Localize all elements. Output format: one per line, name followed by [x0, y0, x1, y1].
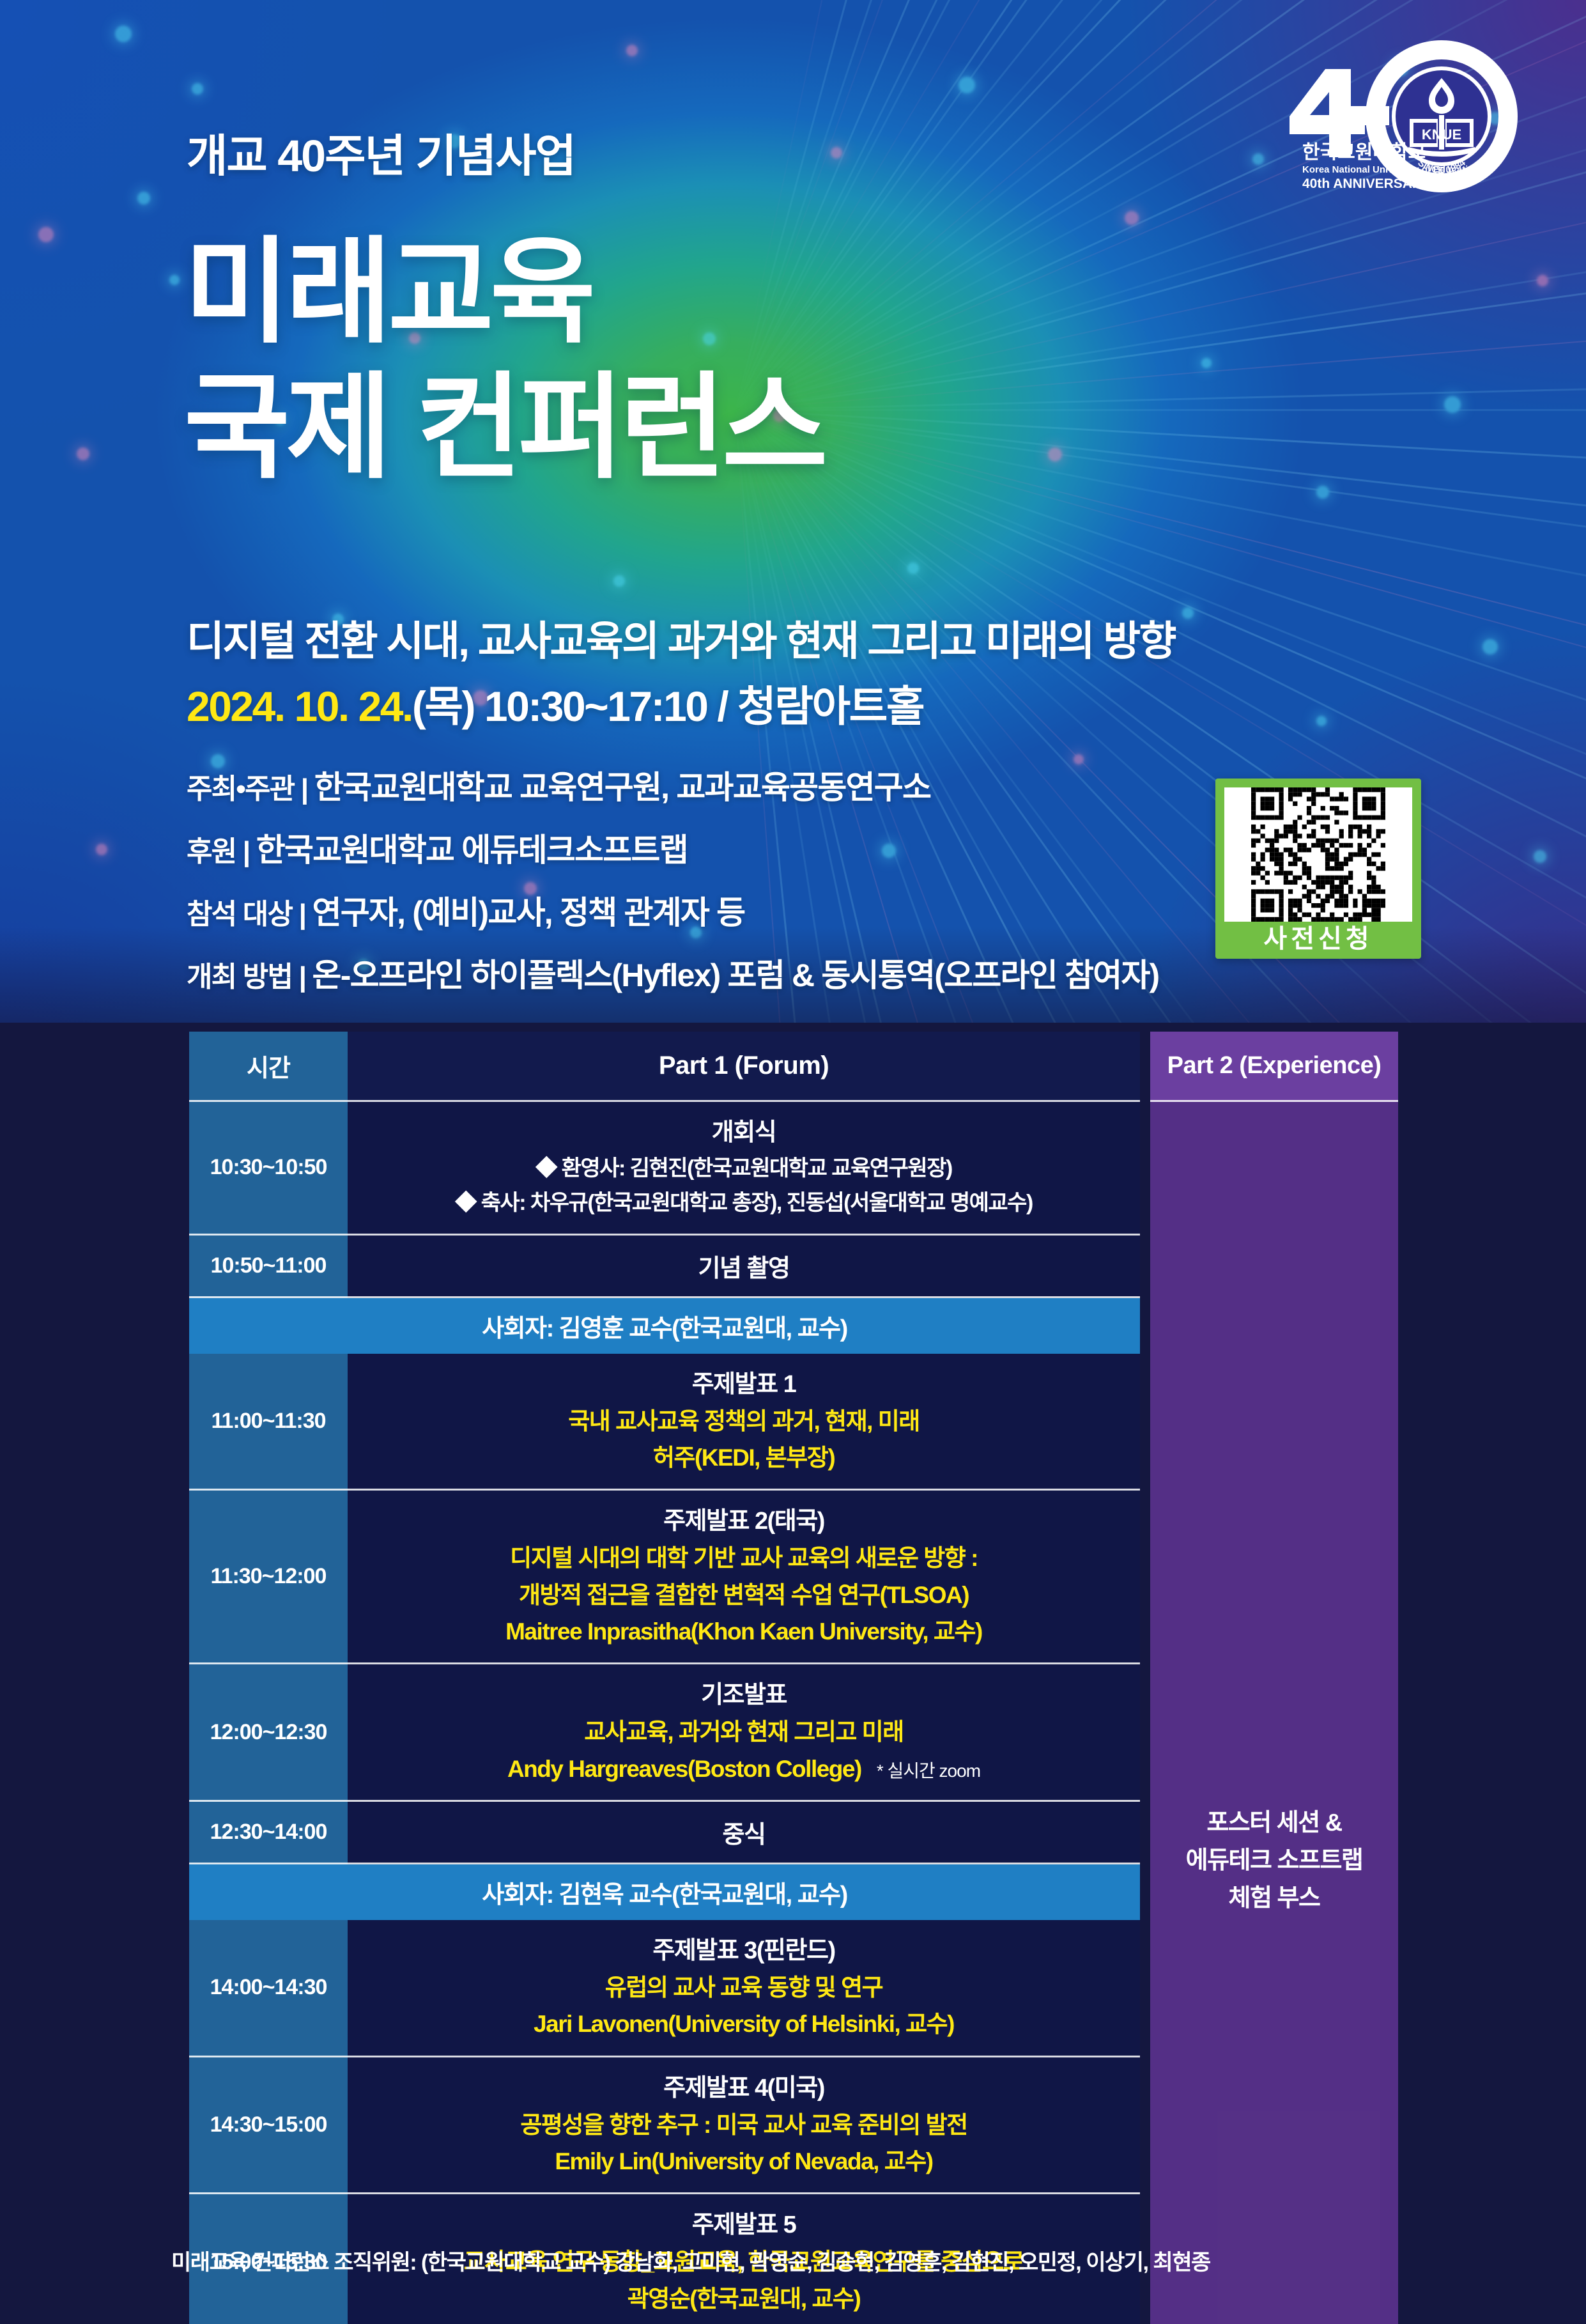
info-label-sponsor: 후원 | [187, 836, 256, 867]
event-time-venue: (목) 10:30~17:10 / 청람아트홀 [412, 683, 923, 730]
session-subject: 유럽의 교사 교육 동향 및 연구 [605, 1969, 882, 2006]
table-row: 10:30~10:50 개회식 ◆ 환영사: 김현진(한국교원대학교 교육연구원… [189, 1102, 1140, 1236]
logo-name-ko: 한국교원대학교 [1302, 142, 1426, 163]
table-row: 14:00~14:30 주제발표 3(핀란드) 유럽의 교사 교육 동향 및 연… [189, 1920, 1140, 2057]
info-label-host: 주최•주관 | [187, 773, 314, 805]
session-title: 기념 촬영 [698, 1248, 790, 1283]
row-content: 기조발표 교사교육, 과거와 현재 그리고 미래 Andy Hargreaves… [348, 1664, 1140, 1802]
row-time: 10:30~10:50 [189, 1102, 348, 1236]
poster-subtitle: 디지털 전환 시대, 교사교육의 과거와 현재 그리고 미래의 방향 [187, 608, 1175, 667]
info-label-audience: 참석 대상 | [187, 899, 312, 930]
column-gap [1140, 1032, 1150, 1102]
logo-name-en: Korea National University of Education [1302, 164, 1480, 175]
row-content: 주제발표 3(핀란드) 유럽의 교사 교육 동향 및 연구 Jari Lavon… [348, 1920, 1140, 2057]
row-time: 11:30~12:00 [189, 1491, 348, 1664]
row-content: 중식 [348, 1802, 1140, 1864]
qr-code-icon[interactable] [1224, 787, 1412, 922]
event-info-block: 주최•주관 | 한국교원대학교 교육연구원, 교과교육공동연구소 후원 | 한국… [187, 762, 1159, 1012]
event-datetime: 2024. 10. 24.(목) 10:30~17:10 / 청람아트홀 [187, 672, 923, 734]
row-time: 12:00~12:30 [189, 1664, 348, 1802]
table-row: 14:30~15:00 주제발표 4(미국) 공평성을 향한 추구 : 미국 교… [189, 2057, 1140, 2195]
part2-experience-cell: 포스터 세션 &에듀테크 소프트랩체험 부스 [1150, 1102, 1398, 2324]
info-row-host: 주최•주관 | 한국교원대학교 교육연구원, 교과교육공동연구소 [187, 762, 1159, 808]
session-title: 주제발표 4(미국) [663, 2070, 824, 2107]
table-row: 12:30~14:00 중식 [189, 1802, 1140, 1864]
row-time: 14:00~14:30 [189, 1920, 348, 2057]
session-subject: 교사교육, 과거와 현재 그리고 미래 [584, 1714, 903, 1750]
part2-text: 포스터 세션 &에듀테크 소프트랩체험 부스 [1186, 1804, 1363, 1917]
session-title: 주제발표 5 [692, 2207, 796, 2243]
info-row-sponsor: 후원 | 한국교원대학교 에듀테크소프트랩 [187, 825, 1159, 871]
knue-40th-anniversary-logo: KNUE SINCE 1984 한국교원대학교 Korea National U… [1250, 38, 1525, 198]
row-content: 개회식 ◆ 환영사: 김현진(한국교원대학교 교육연구원장) ◆ 축사: 차우규… [348, 1102, 1140, 1236]
session-speaker: Andy Hargreaves(Boston College) [507, 1756, 861, 1782]
session-subject: 공평성을 향한 추구 : 미국 교사 교육 준비의 발전 [520, 2107, 967, 2143]
info-label-format: 개최 방법 | [187, 961, 312, 993]
session-title: 주제발표 3(핀란드) [652, 1933, 835, 1969]
column-header-time: 시간 [189, 1032, 348, 1102]
row-time: 14:30~15:00 [189, 2057, 348, 2195]
info-value-audience: 연구자, (예비)교사, 정책 관계자 등 [312, 895, 745, 931]
info-value-sponsor: 한국교원대학교 에듀테크소프트랩 [256, 832, 688, 868]
table-row: 11:30~12:00 주제발표 2(태국) 디지털 시대의 대학 기반 교사 … [189, 1491, 1140, 1664]
title-line-2: 국제 컨퍼런스 [184, 360, 824, 496]
row-content: 주제발표 1 국내 교사교육 정책의 과거, 현재, 미래 허주(KEDI, 본… [348, 1354, 1140, 1491]
page-title: 미래교육 국제 컨퍼런스 [184, 225, 824, 497]
title-line-1: 미래교육 [184, 228, 592, 357]
info-row-format: 개최 방법 | 온-오프라인 하이플렉스(Hyflex) 포럼 & 동시통역(오… [187, 950, 1159, 996]
session-note: * 실시간 zoom [877, 1761, 980, 1781]
organizing-committee-note: 미래교육 컨퍼런스 조직위원: (한국교원대학교 교수) 강남화, 고미현, 곽… [171, 2245, 1210, 2276]
row-content: 주제발표 4(미국) 공평성을 향한 추구 : 미국 교사 교육 준비의 발전 … [348, 2057, 1140, 2195]
moderator-label: 사회자: 김영훈 교수(한국교원대, 교수) [189, 1298, 1140, 1354]
table-header-row: 시간 Part 1 (Forum) Part 2 (Experience) [189, 1032, 1398, 1102]
info-value-format: 온-오프라인 하이플렉스(Hyflex) 포럼 & 동시통역(오프라인 참여자) [312, 957, 1159, 993]
session-speaker: 허주(KEDI, 본부장) [653, 1439, 835, 1476]
conference-poster: KNUE SINCE 1984 한국교원대학교 Korea National U… [0, 0, 1586, 2324]
session-speaker: 곽영순(한국교원대, 교수) [627, 2281, 861, 2317]
table-row: 10:50~11:00 기념 촬영 [189, 1236, 1140, 1298]
row-time: 10:50~11:00 [189, 1236, 348, 1298]
session-speaker: Emily Lin(University of Nevada, 교수) [555, 2143, 932, 2180]
session-speaker-row: Andy Hargreaves(Boston College)* 실시간 zoo… [507, 1751, 980, 1787]
schedule-table: 시간 Part 1 (Forum) Part 2 (Experience) 10… [189, 1032, 1398, 2324]
column-header-part2: Part 2 (Experience) [1150, 1032, 1398, 1102]
row-content: 주제발표 2(태국) 디지털 시대의 대학 기반 교사 교육의 새로운 방향 :… [348, 1491, 1140, 1664]
session-title: 주제발표 2(태국) [663, 1503, 824, 1540]
session-bullet-1: ◆ 환영사: 김현진(한국교원대학교 교육연구원장) [535, 1151, 952, 1186]
column-header-part1: Part 1 (Forum) [348, 1032, 1140, 1102]
session-title: 기조발표 [701, 1677, 787, 1714]
row-time: 12:30~14:00 [189, 1802, 348, 1864]
table-row: 12:00~12:30 기조발표 교사교육, 과거와 현재 그리고 미래 And… [189, 1664, 1140, 1802]
session-title: 주제발표 1 [692, 1367, 796, 1403]
row-content: 기념 촬영 [348, 1236, 1140, 1298]
moderator-label: 사회자: 김현욱 교수(한국교원대, 교수) [189, 1864, 1140, 1920]
moderator-band-2: 사회자: 김현욱 교수(한국교원대, 교수) [189, 1864, 1140, 1920]
event-date: 2024. 10. 24. [187, 683, 412, 730]
info-row-audience: 참석 대상 | 연구자, (예비)교사, 정책 관계자 등 [187, 887, 1159, 933]
row-time: 11:00~11:30 [189, 1354, 348, 1491]
moderator-band-1: 사회자: 김영훈 교수(한국교원대, 교수) [189, 1298, 1140, 1354]
registration-qr-badge[interactable]: 사전신청 [1215, 779, 1421, 959]
session-speaker: Jari Lavonen(University of Helsinki, 교수) [534, 2006, 954, 2042]
info-value-host: 한국교원대학교 교육연구원, 교과교육공동연구소 [314, 770, 930, 805]
table-row: 11:00~11:30 주제발표 1 국내 교사교육 정책의 과거, 현재, 미… [189, 1354, 1140, 1491]
poster-kicker: 개교 40주년 기념사업 [187, 120, 575, 185]
emblem-knue-text: KNUE [1422, 127, 1461, 143]
session-title: 중식 [723, 1815, 766, 1850]
qr-label: 사전신청 [1215, 918, 1421, 955]
column-gap [1140, 1102, 1150, 2324]
session-subject-line-2: 개방적 접근을 결합한 변혁적 수업 연구(TLSOA) [519, 1577, 969, 1613]
session-speaker: Maitree Inprasitha(Khon Kaen University,… [505, 1613, 982, 1650]
logo-anniversary-en: 40th ANNIVERSARY [1302, 176, 1430, 191]
session-title: 개회식 [712, 1115, 776, 1151]
session-subject: 국내 교사교육 정책의 과거, 현재, 미래 [568, 1403, 920, 1439]
session-subject-line-1: 디지털 시대의 대학 기반 교사 교육의 새로운 방향 : [510, 1540, 978, 1576]
session-bullet-2: ◆ 축사: 차우규(한국교원대학교 총장), 진동섭(서울대학교 명예교수) [455, 1186, 1033, 1220]
